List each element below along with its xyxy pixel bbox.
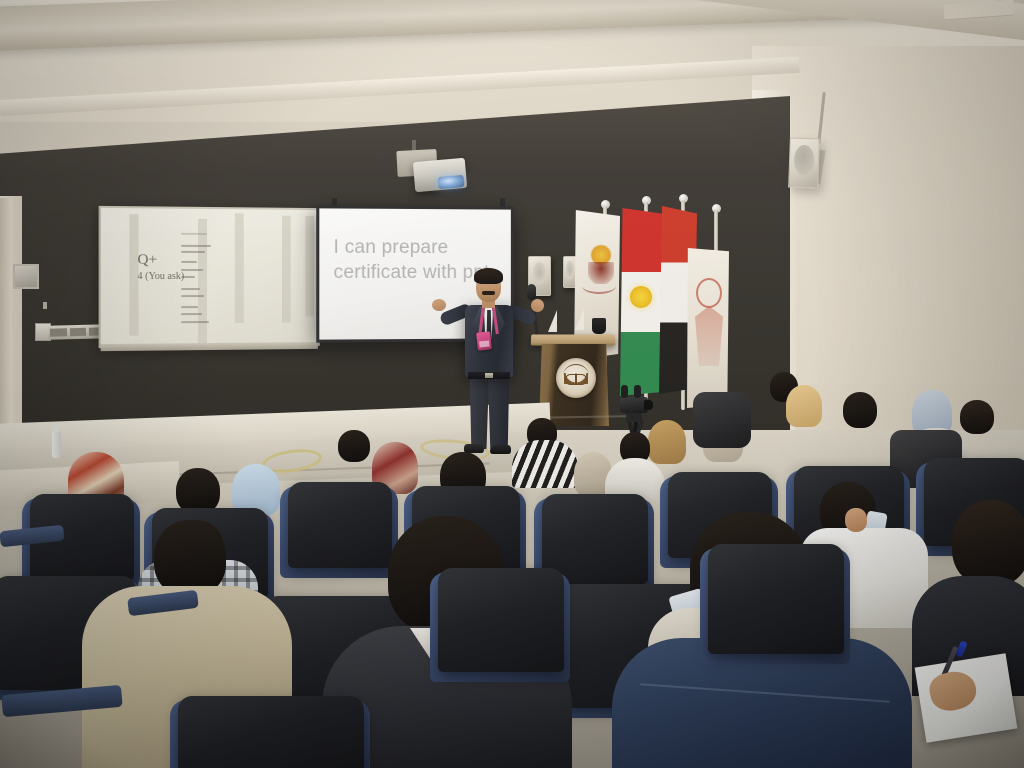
whiteboard-note-1: Q+	[137, 252, 157, 269]
projector-lens	[438, 175, 465, 189]
camera-microphone	[634, 385, 641, 398]
whiteboard-scribble	[181, 245, 211, 247]
university-emblem	[556, 358, 596, 398]
camera-microphone	[621, 385, 628, 398]
podium-item-cup	[592, 318, 606, 334]
whiteboard-scribble	[181, 233, 207, 235]
attendee-head	[154, 520, 226, 596]
flag-emblem-ring	[696, 278, 722, 308]
wall-speaker-right	[788, 137, 820, 188]
wall-speaker-center-2	[563, 256, 577, 288]
attendee-hijab	[648, 420, 686, 464]
attendee-hand	[845, 508, 867, 532]
wall-panel	[13, 264, 39, 289]
whiteboard-scribble	[181, 269, 203, 271]
auditorium-seat	[178, 696, 364, 768]
auditorium-seat	[708, 544, 844, 654]
auditorium-seat	[288, 482, 392, 568]
attendee-head	[952, 500, 1024, 586]
whiteboard-scribble	[181, 321, 209, 323]
presenter-right-shoe	[490, 445, 511, 454]
whiteboard-scribble	[181, 313, 202, 315]
whiteboard-scribble	[181, 251, 205, 253]
presenter-right-hand	[531, 299, 544, 312]
office-chair	[693, 392, 751, 448]
presenter-name-badge	[476, 331, 492, 350]
whiteboard-scribble	[181, 295, 204, 297]
presenter-right-leg	[488, 377, 511, 449]
lecture-hall-photo: Q+ 4 (You ask) I can prepare certificate…	[0, 0, 1024, 768]
hand-sanitizer-bottle	[52, 431, 61, 458]
whiteboard-scribble	[181, 261, 197, 263]
presenter-hair	[474, 268, 503, 284]
presenter-left-hand	[432, 299, 446, 311]
whiteboard-scribble	[181, 306, 198, 308]
attendee-head	[960, 400, 994, 434]
flag-emblem-arc	[582, 278, 616, 294]
whiteboard-scribble	[181, 276, 195, 278]
emblem-book-icon	[564, 373, 588, 384]
university-flag-right	[687, 248, 729, 408]
kurdistan-flag	[620, 208, 662, 396]
whiteboard: Q+ 4 (You ask)	[99, 206, 320, 348]
flag-emblem-crest	[695, 306, 723, 366]
whiteboard-note-2: 4 (You ask)	[137, 271, 184, 282]
auditorium-seat	[438, 568, 564, 672]
attendee-head	[338, 430, 370, 462]
kurdistan-sun-icon	[630, 286, 652, 308]
presenter-left-leg	[468, 377, 489, 449]
whiteboard-scribble	[181, 288, 200, 290]
attendee-shoulders	[512, 440, 578, 488]
camera-lens	[644, 400, 653, 410]
attendee-head	[843, 392, 877, 428]
wall-fixture	[43, 302, 47, 309]
attendee-hijab	[786, 385, 822, 427]
desk-flag	[575, 308, 584, 330]
presenter-belt	[468, 372, 510, 379]
tripod-head	[626, 412, 642, 422]
presenter-mustache	[482, 291, 495, 295]
